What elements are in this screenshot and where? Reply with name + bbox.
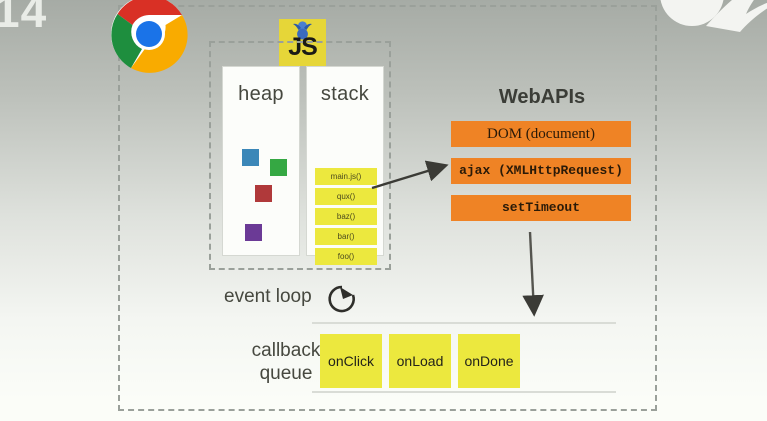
- stack-panel: stack main.js() qux() baz() bar() foo(): [306, 66, 384, 256]
- webapi-ajax: ajax (XMLHttpRequest): [451, 158, 631, 184]
- stack-frame: main.js(): [315, 168, 377, 185]
- heap-object-blue: [242, 149, 259, 166]
- stack-frame: bar(): [315, 228, 377, 245]
- callback-ondone: onDone: [458, 334, 520, 388]
- heap-object-red: [255, 185, 272, 202]
- webapis-title: WebAPIs: [452, 86, 632, 109]
- slide-number: 14: [0, 0, 47, 34]
- stack-frame: baz(): [315, 208, 377, 225]
- heap-panel: heap: [222, 66, 300, 256]
- webapi-settimeout: setTimeout: [451, 195, 631, 221]
- stack-title: stack: [307, 83, 383, 106]
- circular-arrow-icon: [326, 283, 358, 315]
- stack-frame: qux(): [315, 188, 377, 205]
- queue-line-bottom: [312, 391, 616, 393]
- heap-object-purple: [245, 224, 262, 241]
- swoosh-icon: [706, 0, 767, 32]
- callback-onload: onLoad: [389, 334, 451, 388]
- heap-object-green: [270, 159, 287, 176]
- stack-frame: foo(): [315, 248, 377, 265]
- webapi-dom: DOM (document): [451, 121, 631, 147]
- queue-line-top: [312, 322, 616, 324]
- event-loop-label: event loop: [224, 286, 312, 308]
- heap-title: heap: [223, 83, 299, 106]
- callback-onclick: onClick: [320, 334, 382, 388]
- chrome-logo: [109, 0, 189, 74]
- slide-canvas: 14 JS heap: [0, 0, 767, 421]
